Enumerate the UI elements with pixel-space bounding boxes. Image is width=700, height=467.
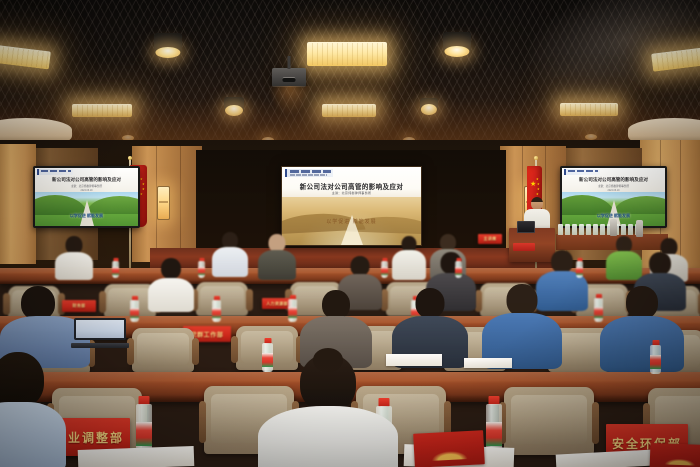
slide-title: 新公司法对公司高管的影响及应对 — [282, 181, 421, 192]
person-torso — [258, 250, 296, 280]
thermos — [610, 219, 617, 236]
paper-sheet — [386, 354, 442, 366]
ceiling-projector — [272, 68, 306, 87]
laptop-screen — [74, 318, 126, 340]
person-head — [0, 352, 44, 408]
projector-mount — [288, 56, 291, 69]
monitor-caption: 以学促进 赋能发展 — [562, 213, 665, 219]
flag-star-small: ★ — [142, 183, 145, 186]
left-monitor: 新公司法对公司高管的影响及应对 主讲：北京炜衡律师事务所 2024.06.19 … — [33, 166, 140, 228]
paper-sheet — [78, 446, 195, 467]
wall-sconce-left — [157, 186, 170, 220]
chair — [132, 328, 194, 372]
podium-laptop — [517, 221, 540, 234]
water-bottle — [486, 396, 502, 454]
monitor-subtitle: 主讲：北京炜衡律师事务所 — [562, 184, 665, 188]
monitor-title: 新公司法对公司高管的影响及应对 — [562, 177, 665, 183]
person-head — [649, 252, 671, 275]
ceiling-panel-light — [307, 42, 387, 66]
ceiling-cylinder-downlight — [154, 33, 182, 55]
person-head — [322, 290, 350, 319]
person-head — [626, 286, 658, 319]
flag-star-small: ★ — [537, 188, 540, 191]
notebook-emblem — [429, 449, 470, 461]
podium-nameplate — [513, 243, 535, 251]
person-head — [21, 286, 55, 320]
person-torso — [392, 250, 426, 280]
person-torso — [55, 252, 93, 280]
thermos — [636, 220, 643, 237]
attendee-foreground — [258, 354, 398, 467]
flag-star-small: ★ — [140, 193, 143, 196]
ceiling — [0, 0, 700, 150]
notebook — [413, 430, 485, 467]
attendee-foreground — [0, 352, 66, 467]
chair — [504, 387, 594, 455]
flag-star-small: ★ — [536, 193, 539, 196]
flag-star-small: ★ — [140, 178, 143, 181]
water-bottle — [212, 296, 221, 322]
ceiling-cylinder-downlight — [443, 32, 471, 54]
flag-star-small: ★ — [536, 178, 539, 181]
laptop-screen — [517, 221, 535, 233]
person-torso — [148, 278, 194, 312]
conference-room-photo: ★ ★ ★ ★ ★ ★ ★ ★ ★ ★ 新公司法对公司高管的影响及应对 主讲：北… — [0, 0, 700, 467]
attendee — [258, 234, 296, 278]
person-hair-bun — [313, 348, 343, 372]
attendee — [600, 286, 684, 370]
flag-star-large: ★ — [530, 181, 536, 188]
person-torso — [212, 247, 248, 277]
monitor-hill-right — [614, 196, 666, 213]
flag-star-small: ★ — [537, 183, 540, 186]
laptop-base — [71, 343, 128, 348]
water-bottle — [455, 258, 462, 278]
attendee — [55, 236, 93, 276]
slide-overlay-text: 以学促进 赋能发展 — [282, 218, 421, 225]
water-bottle — [136, 396, 152, 454]
chair — [196, 282, 248, 316]
wall-panel — [0, 144, 36, 264]
attendee — [482, 284, 562, 368]
monitor-slide-header: 新公司法对公司高管的影响及应对 主讲：北京炜衡律师事务所 2024.06.19 — [35, 168, 138, 192]
flag-star-small: ★ — [142, 188, 145, 191]
monitor-slide-image: 以学促进 赋能发展 — [35, 192, 138, 226]
water-bottle — [130, 296, 139, 322]
monitor-caption: 以学促进 赋能发展 — [35, 213, 138, 219]
person-torso — [0, 402, 66, 467]
water-bottle — [381, 258, 388, 278]
person-head — [551, 250, 573, 273]
placard-podium: 主讲席 — [478, 234, 502, 244]
attendee — [148, 258, 194, 310]
attendee — [392, 236, 426, 278]
slide-header-area: 新公司法对公司高管的影响及应对 主讲：北京炜衡律师事务所 2024.06.19 — [282, 167, 421, 198]
water-bottle — [650, 340, 661, 374]
person-torso — [258, 406, 398, 467]
water-bottle — [112, 258, 119, 278]
paper-sheet — [464, 358, 512, 368]
monitor-subtitle: 主讲：北京炜衡律师事务所 — [35, 184, 138, 188]
monitor-hill-right — [87, 196, 139, 213]
attendee — [212, 232, 248, 276]
person-torso — [600, 316, 684, 372]
water-bottle — [288, 295, 297, 322]
company-logo — [285, 169, 333, 177]
notebook-emblem — [662, 457, 697, 466]
water-bottle — [198, 258, 205, 278]
laptop — [74, 318, 126, 348]
monitor-slide-header: 新公司法对公司高管的影响及应对 主讲：北京炜衡律师事务所 2024.06.19 — [562, 168, 665, 192]
person-head — [351, 256, 370, 276]
projection-screen: 新公司法对公司高管的影响及应对 主讲：北京炜衡律师事务所 2024.06.19 … — [281, 166, 422, 246]
company-logo — [564, 169, 600, 175]
notebook — [650, 443, 700, 467]
water-bottle — [576, 258, 583, 278]
slide-subtitle: 主讲：北京炜衡律师事务所 — [282, 191, 421, 195]
monitor-title: 新公司法对公司高管的影响及应对 — [35, 177, 138, 183]
projector-lens — [283, 77, 296, 82]
company-logo — [37, 169, 73, 175]
person-head — [507, 284, 538, 316]
